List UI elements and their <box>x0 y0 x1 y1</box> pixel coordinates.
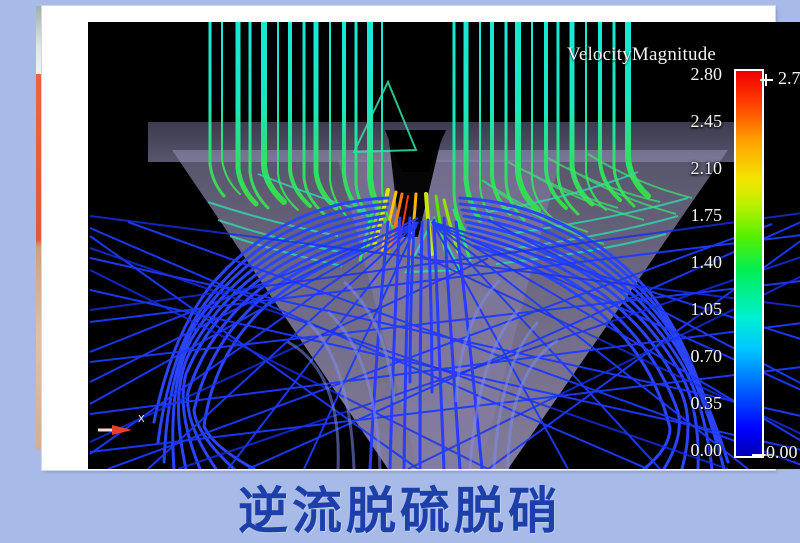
colorbar-tick-7: 0.35 <box>691 393 723 414</box>
colorbar-tick-2: 2.10 <box>691 158 723 179</box>
colorbar-gradient <box>734 69 764 458</box>
colorbar-min-annotation: 0.00 <box>766 442 798 463</box>
colorbar-max-annotation: 2.74 <box>778 68 800 89</box>
page-caption: 逆流脱硫脱硝 <box>0 472 800 542</box>
colorbar-tick-1: 2.45 <box>691 111 723 132</box>
colorbar-tick-5: 1.05 <box>691 299 723 320</box>
colorbar-tick-3: 1.75 <box>691 205 723 226</box>
colorbar-tick-8: 0.00 <box>691 440 723 461</box>
screenshot-root: VelocityMagnitude 2.80 2.45 2.10 1.75 1.… <box>0 0 800 542</box>
render-window-frame: VelocityMagnitude 2.80 2.45 2.10 1.75 1.… <box>42 6 775 470</box>
colorbar-tick-0: 2.80 <box>691 64 723 85</box>
colorbar-tick-4: 1.40 <box>691 252 723 273</box>
axis-x-label: X <box>138 414 145 425</box>
cfd-viewport[interactable]: VelocityMagnitude 2.80 2.45 2.10 1.75 1.… <box>88 22 800 469</box>
colorbar-max-marker-icon <box>760 79 773 81</box>
colorbar-tick-6: 0.70 <box>691 346 723 367</box>
axis-x-arrow-icon <box>96 418 144 442</box>
colorbar[interactable]: 2.80 2.45 2.10 1.75 1.40 1.05 0.70 0.35 … <box>88 22 800 469</box>
